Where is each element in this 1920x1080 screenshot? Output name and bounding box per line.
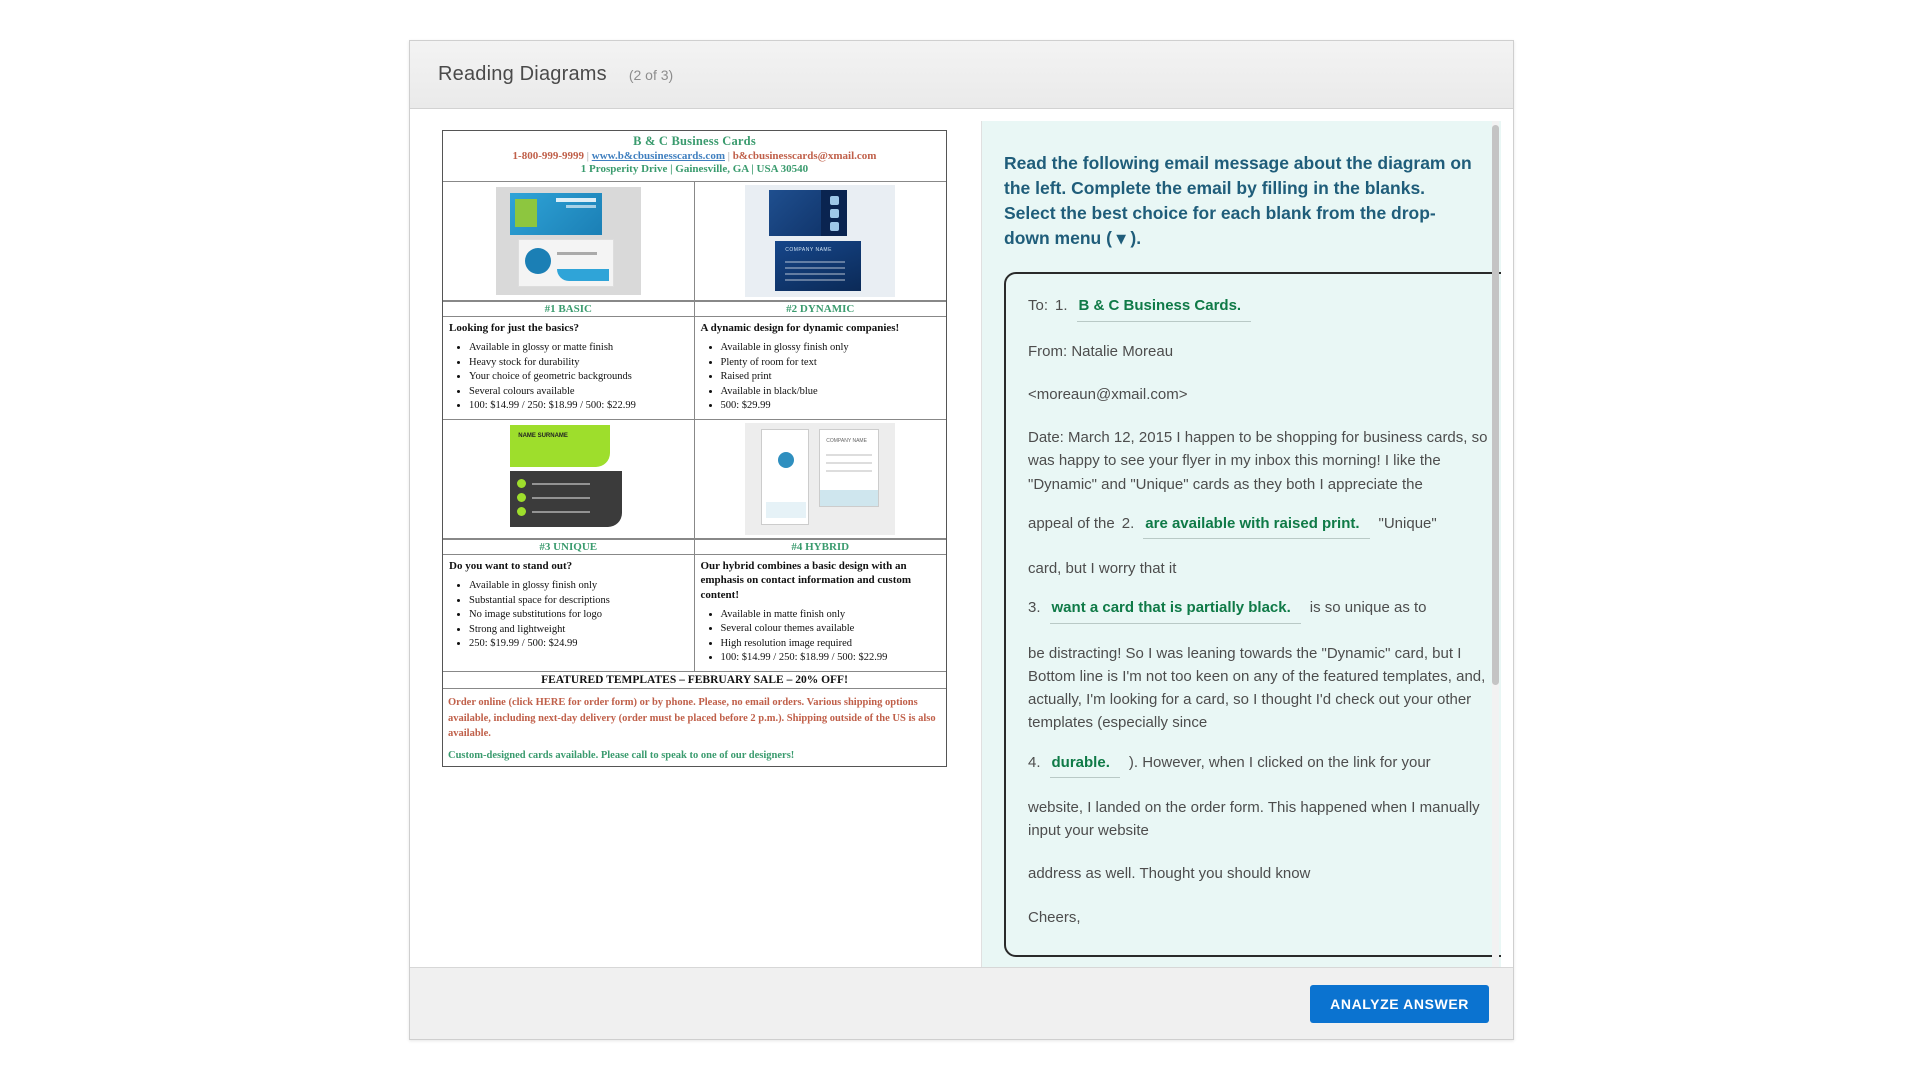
blank-4-number: 4.: [1028, 751, 1041, 774]
email-address-line: <moreaun@xmail.com>: [1028, 383, 1496, 406]
email-blank-2-row: appeal of the 2. are available with rais…: [1028, 512, 1496, 539]
card-image-basic: [443, 182, 694, 300]
card-title-cell-dynamic: #2 DYNAMIC: [695, 301, 947, 317]
email-paragraph-3: be distracting! So I was leaning towards…: [1028, 642, 1496, 735]
card-desc-cell-basic: Looking for just the basics? Available i…: [443, 317, 695, 420]
bullet-item: No image substitutions for logo: [469, 608, 688, 621]
email-to-label: To:: [1028, 294, 1048, 317]
card-image-dynamic: COMPANY NAME: [695, 182, 947, 300]
card-title-row-2: #3 UNIQUE #4 HYBRID: [443, 539, 946, 555]
card-bullets-dynamic: Available in glossy finish only Plenty o…: [701, 341, 941, 412]
unique-card-artwork: NAME SURNAME: [492, 423, 644, 535]
flyer-phone: 1-800-999-9999: [513, 150, 585, 162]
blank-2-number: 2.: [1122, 512, 1135, 535]
dynamic-artwork-company-label: COMPANY NAME: [785, 247, 832, 253]
flyer-separator-2: |: [728, 150, 730, 162]
flyer-separator-1: |: [587, 150, 589, 162]
email-card: To: 1. B & C Business Cards. From: Natal…: [1004, 272, 1501, 957]
card-title-unique: #3 UNIQUE: [443, 539, 694, 555]
card-description-unique: Do you want to stand out? Available in g…: [443, 555, 694, 657]
flyer-contact-line: 1-800-999-9999 | www.b&cbusinesscards.co…: [443, 150, 946, 164]
email-from-line: From: Natalie Moreau: [1028, 340, 1496, 363]
instructions-text: Read the following email message about t…: [1004, 151, 1475, 250]
card-image-hybrid: COMPANY NAME: [695, 420, 947, 538]
card-title-dynamic: #2 DYNAMIC: [695, 301, 947, 317]
analyze-answer-button[interactable]: ANALYZE ANSWER: [1310, 985, 1489, 1023]
basic-card-artwork: [496, 187, 641, 295]
bullet-item: Heavy stock for durability: [469, 356, 688, 369]
email-pane: Read the following email message about t…: [982, 121, 1501, 967]
flyer-header: B & C Business Cards 1-800-999-9999 | ww…: [443, 131, 946, 182]
hybrid-card-artwork: COMPANY NAME: [745, 423, 895, 535]
exercise-window: Reading Diagrams (2 of 3) B & C Business…: [409, 40, 1514, 1040]
card-heading-dynamic: A dynamic design for dynamic companies!: [701, 321, 941, 335]
card-title-cell-hybrid: #4 HYBRID: [695, 539, 947, 555]
bullet-item: Raised print: [721, 370, 941, 383]
bullet-item: Your choice of geometric backgrounds: [469, 370, 688, 383]
bullet-item: Plenty of room for text: [721, 356, 941, 369]
scrollbar-thumb[interactable]: [1492, 125, 1499, 685]
card-desc-cell-hybrid: Our hybrid combines a basic design with …: [695, 555, 947, 672]
blank-3-suffix: is so unique as to: [1310, 596, 1427, 619]
bullet-item: Several colour themes available: [721, 622, 941, 635]
card-image-unique: NAME SURNAME: [443, 420, 694, 538]
diagram-pane: B & C Business Cards 1-800-999-9999 | ww…: [422, 121, 982, 967]
card-description-hybrid: Our hybrid combines a basic design with …: [695, 555, 947, 671]
card-description-basic: Looking for just the basics? Available i…: [443, 317, 694, 419]
business-card-flyer: B & C Business Cards 1-800-999-9999 | ww…: [442, 130, 947, 767]
card-title-row-1: #1 BASIC #2 DYNAMIC: [443, 301, 946, 317]
card-cell-hybrid-image: COMPANY NAME: [695, 420, 947, 539]
blank-3-number: 3.: [1028, 596, 1041, 619]
bullet-item: Available in black/blue: [721, 385, 941, 398]
flyer-order-info: Order online (click HERE for order form)…: [443, 689, 946, 746]
card-desc-row-2: Do you want to stand out? Available in g…: [443, 555, 946, 672]
bullet-item: 100: $14.99 / 250: $18.99 / 500: $22.99: [469, 399, 688, 412]
card-image-row-1: COMPANY NAME: [443, 182, 946, 301]
email-paragraph-1: Date: March 12, 2015 I happen to be shop…: [1028, 426, 1496, 496]
email-blank-3-row: 3. want a card that is partially black. …: [1028, 596, 1496, 623]
dynamic-card-artwork: COMPANY NAME: [745, 185, 895, 297]
card-bullets-hybrid: Available in matte finish only Several c…: [701, 608, 941, 665]
card-cell-dynamic-image: COMPANY NAME: [695, 182, 947, 301]
card-description-dynamic: A dynamic design for dynamic companies! …: [695, 317, 947, 419]
blank-4-dropdown[interactable]: durable.: [1050, 751, 1120, 778]
flyer-custom-design-note: Custom-designed cards available. Please …: [443, 746, 946, 766]
window-header: Reading Diagrams (2 of 3): [410, 41, 1513, 109]
hybrid-artwork-company-label: COMPANY NAME: [826, 438, 867, 444]
card-bullets-basic: Available in glossy or matte finish Heav…: [449, 341, 688, 412]
card-title-cell-unique: #3 UNIQUE: [443, 539, 695, 555]
flyer-featured-title: FEATURED TEMPLATES – FEBRUARY SALE – 20%…: [443, 672, 946, 689]
card-title-hybrid: #4 HYBRID: [695, 539, 947, 555]
bullet-item: High resolution image required: [721, 637, 941, 650]
email-paragraph-4: website, I landed on the order form. Thi…: [1028, 796, 1496, 843]
bullet-item: Several colours available: [469, 385, 688, 398]
flyer-address: 1 Prosperity Drive | Gainesville, GA | U…: [443, 163, 946, 177]
blank-3-dropdown[interactable]: want a card that is partially black.: [1050, 596, 1301, 623]
card-desc-row-1: Looking for just the basics? Available i…: [443, 317, 946, 420]
flyer-email: b&cbusinesscards@xmail.com: [733, 150, 877, 162]
window-footer: ANALYZE ANSWER: [410, 967, 1513, 1039]
card-title-basic: #1 BASIC: [443, 301, 694, 317]
blank-1-dropdown[interactable]: B & C Business Cards.: [1077, 294, 1252, 321]
card-desc-cell-unique: Do you want to stand out? Available in g…: [443, 555, 695, 672]
card-cell-basic-image: [443, 182, 695, 301]
unique-artwork-name-label: NAME SURNAME: [518, 433, 568, 439]
card-heading-basic: Looking for just the basics?: [449, 321, 688, 335]
blank-2-prefix: appeal of the: [1028, 512, 1115, 535]
card-bullets-unique: Available in glossy finish only Substant…: [449, 579, 688, 650]
email-pane-scrollbar[interactable]: [1492, 121, 1499, 967]
card-desc-cell-dynamic: A dynamic design for dynamic companies! …: [695, 317, 947, 420]
flyer-company-name: B & C Business Cards: [443, 134, 946, 150]
content-area: B & C Business Cards 1-800-999-9999 | ww…: [410, 109, 1513, 967]
card-title-cell-basic: #1 BASIC: [443, 301, 695, 317]
card-heading-hybrid: Our hybrid combines a basic design with …: [701, 559, 941, 601]
bullet-item: 500: $29.99: [721, 399, 941, 412]
card-heading-unique: Do you want to stand out?: [449, 559, 688, 573]
email-to-row: To: 1. B & C Business Cards.: [1028, 294, 1496, 321]
bullet-item: 250: $19.99 / 500: $24.99: [469, 637, 688, 650]
email-signoff: Cheers,: [1028, 906, 1496, 929]
card-cell-unique-image: NAME SURNAME: [443, 420, 695, 539]
blank-4-suffix: ). However, when I clicked on the link f…: [1129, 751, 1431, 774]
bullet-item: Available in glossy or matte finish: [469, 341, 688, 354]
bullet-item: Strong and lightweight: [469, 623, 688, 636]
blank-2-dropdown[interactable]: are available with raised print.: [1143, 512, 1369, 539]
email-paragraph-2: card, but I worry that it: [1028, 557, 1496, 580]
email-blank-4-row: 4. durable. ). However, when I clicked o…: [1028, 751, 1496, 778]
page-title: Reading Diagrams: [438, 63, 607, 86]
progress-indicator: (2 of 3): [629, 67, 673, 83]
bullet-item: 100: $14.99 / 250: $18.99 / 500: $22.99: [721, 651, 941, 664]
bullet-item: Available in glossy finish only: [721, 341, 941, 354]
flyer-website-link[interactable]: www.b&cbusinesscards.com: [592, 150, 725, 162]
bullet-item: Available in matte finish only: [721, 608, 941, 621]
email-paragraph-5: address as well. Thought you should know: [1028, 862, 1496, 885]
bullet-item: Available in glossy finish only: [469, 579, 688, 592]
bullet-item: Substantial space for descriptions: [469, 594, 688, 607]
blank-2-suffix: "Unique": [1379, 512, 1437, 535]
card-image-row-2: NAME SURNAME: [443, 420, 946, 539]
blank-1-number: 1.: [1055, 294, 1068, 317]
